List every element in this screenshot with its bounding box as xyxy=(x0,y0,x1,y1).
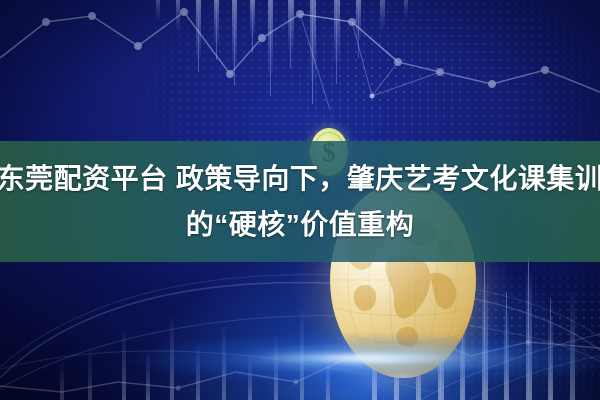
title-overlay-band xyxy=(0,141,600,262)
banner-image: $ 东莞配资平台 政策导向下，肇庆艺考文化课集训 的“硬核”价值重构 xyxy=(0,0,600,400)
